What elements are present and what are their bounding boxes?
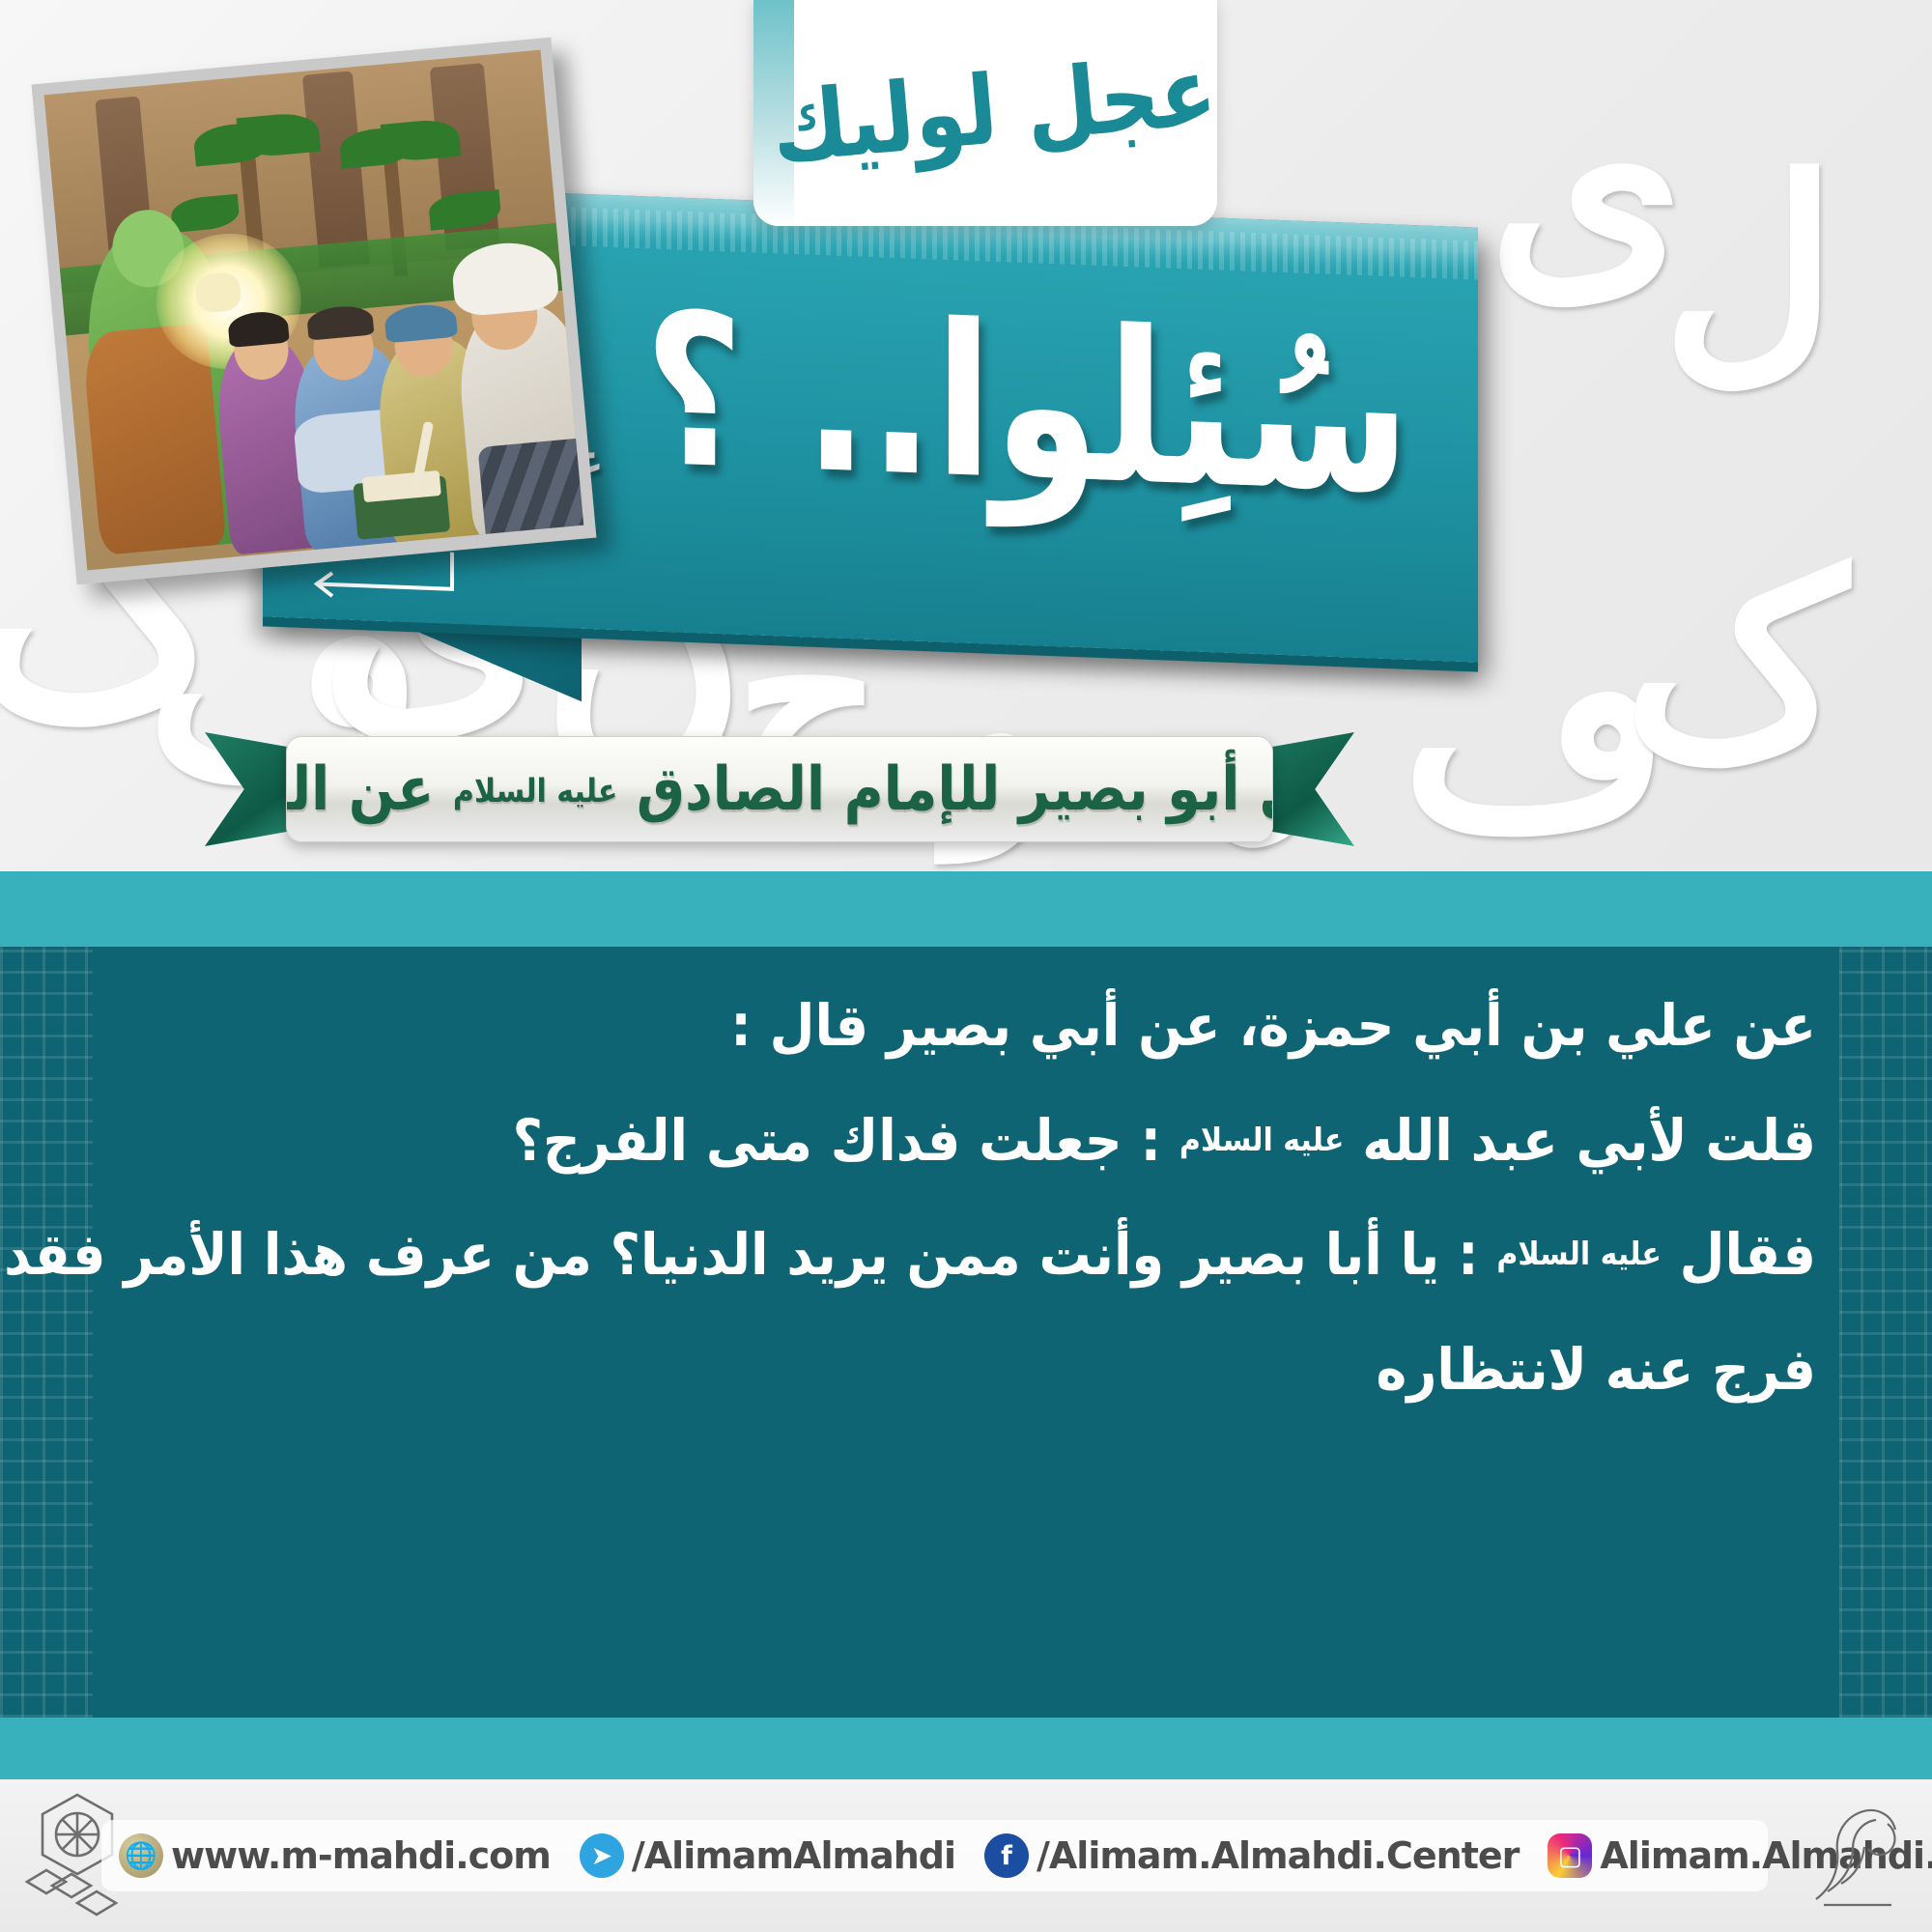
body-top-bar bbox=[0, 871, 1932, 947]
arabic-seal-icon bbox=[1799, 1795, 1913, 1915]
hadith-line-2-honorific: عليه السلام bbox=[1179, 1122, 1344, 1159]
question-text: سؤال أبو بصير للإمام الصادق عليه السلام … bbox=[286, 754, 1273, 825]
footer-website-label: www.m-mahdi.com bbox=[171, 1834, 551, 1877]
hadith-line-2-text-b: : جعلت فداك متى الفرج؟ bbox=[513, 1106, 1162, 1173]
hadith-line-3-honorific: عليه السلام bbox=[1496, 1236, 1661, 1274]
footer-item-facebook[interactable]: f /Alimam.Almahdi.Center bbox=[984, 1833, 1519, 1878]
dua-calligraphy-card: اللهم عجل لوليك الفرج bbox=[753, 0, 1217, 226]
hadith-body-block: عن علي بن أبي حمزة، عن أبي بصير قال : قل… bbox=[0, 871, 1932, 1779]
dua-calligraphy-text: اللهم عجل لوليك الفرج bbox=[753, 0, 1217, 226]
body-right-pattern bbox=[1839, 947, 1932, 1718]
telegram-icon: ➤ bbox=[580, 1833, 624, 1878]
hadith-line-3: فقال عليه السلام : يا أبا بصير وأنت ممن … bbox=[116, 1226, 1816, 1286]
illustration-frame bbox=[32, 38, 597, 585]
instagram-icon: ▢ bbox=[1548, 1833, 1592, 1878]
globe-icon: 🌐 bbox=[119, 1833, 163, 1878]
footer: 🌐 www.m-mahdi.com ➤ /AlimamAlmahdi f /Al… bbox=[0, 1779, 1932, 1932]
facebook-icon: f bbox=[984, 1833, 1029, 1878]
question-text-after: عن الفرج؟ bbox=[286, 754, 434, 825]
hadith-line-1: عن علي بن أبي حمزة، عن أبي بصير قال : bbox=[116, 996, 1816, 1056]
footer-links: 🌐 www.m-mahdi.com ➤ /AlimamAlmahdi f /Al… bbox=[101, 1820, 1768, 1891]
question-text-before: سؤال أبو بصير للإمام الصادق bbox=[637, 754, 1273, 825]
hadith-line-3-text-b: : يا أبا بصير وأنت ممن يريد الدنيا؟ من ع… bbox=[4, 1221, 1478, 1288]
body-left-pattern bbox=[0, 947, 93, 1718]
question-ribbon: سؤال أبو بصير للإمام الصادق عليه السلام … bbox=[205, 726, 1354, 852]
imam-teaching-companions-illustration bbox=[44, 50, 584, 571]
hadith-line-3-text-a: فقال bbox=[1680, 1221, 1816, 1288]
hadith-line-1-text: عن علي بن أبي حمزة، عن أبي بصير قال : bbox=[730, 992, 1816, 1059]
footer-item-website[interactable]: 🌐 www.m-mahdi.com bbox=[119, 1833, 551, 1878]
hadith-line-4-text: فرج عنه لانتظاره bbox=[1376, 1336, 1816, 1403]
question-bar: سؤال أبو بصير للإمام الصادق عليه السلام … bbox=[286, 736, 1273, 842]
hadith-text: عن علي بن أبي حمزة، عن أبي بصير قال : قل… bbox=[116, 999, 1816, 1458]
hadith-line-2: قلت لأبي عبد الله عليه السلام : جعلت فدا… bbox=[116, 1111, 1816, 1171]
footer-telegram-label: /AlimamAlmahdi bbox=[632, 1834, 955, 1877]
question-honorific: عليه السلام bbox=[453, 772, 617, 810]
footer-item-telegram[interactable]: ➤ /AlimamAlmahdi bbox=[580, 1833, 955, 1878]
hadith-line-4: فرج عنه لانتظاره bbox=[116, 1340, 1816, 1400]
hadith-line-2-text-a: قلت لأبي عبد الله bbox=[1362, 1106, 1816, 1173]
poster-root: ک ڡ ى ں ح و س ى ل ڡ ک ه ک ں و ح س ى الله… bbox=[0, 0, 1932, 1932]
footer-facebook-label: /Alimam.Almahdi.Center bbox=[1037, 1834, 1519, 1877]
body-bottom-bar bbox=[0, 1718, 1932, 1779]
